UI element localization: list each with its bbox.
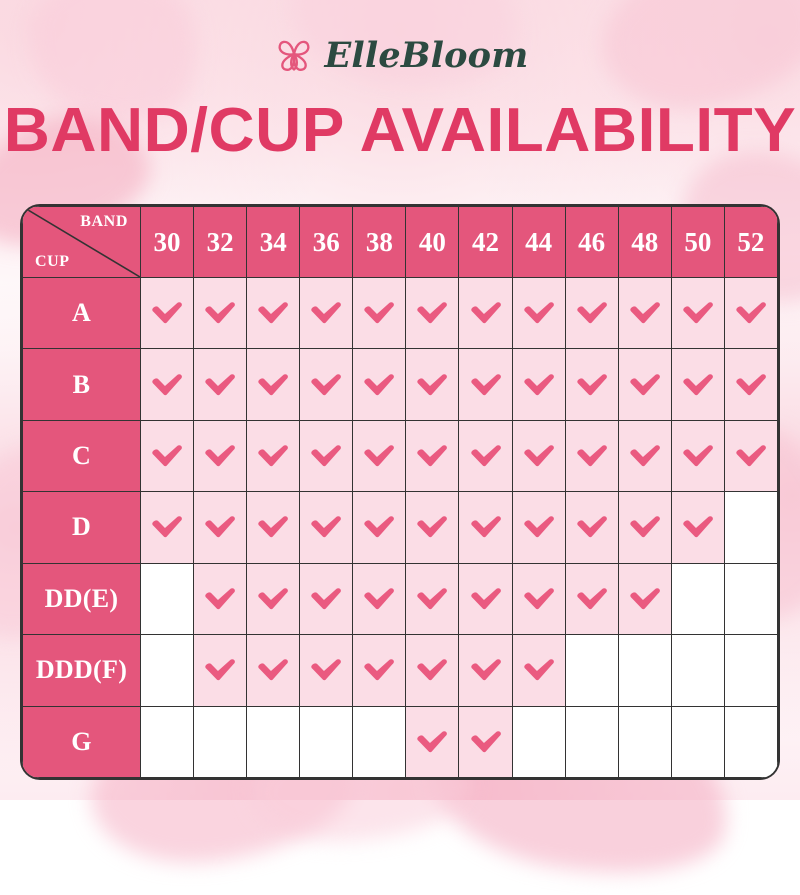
availability-cell-DDD(F)-44 xyxy=(512,635,565,706)
band-cup-availability-table: BAND CUP 303234363840424446485052 ABCDDD… xyxy=(22,206,778,778)
checkmark-icon xyxy=(628,304,662,321)
availability-cell-C-52 xyxy=(724,420,777,491)
checkmark-icon xyxy=(309,661,343,678)
checkmark-icon xyxy=(415,661,449,678)
checkmark-icon xyxy=(256,590,290,607)
availability-cell-DD(E)-30 xyxy=(141,563,194,634)
checkmark-icon xyxy=(575,447,609,464)
availability-cell-B-42 xyxy=(459,349,512,420)
checkmark-icon xyxy=(469,375,503,392)
table-row: G xyxy=(23,706,778,777)
checkmark-icon xyxy=(522,375,556,392)
availability-cell-D-30 xyxy=(141,492,194,563)
table-header-row: BAND CUP 303234363840424446485052 xyxy=(23,207,778,278)
flower-icon xyxy=(272,33,316,77)
availability-cell-G-42 xyxy=(459,706,512,777)
checkmark-icon xyxy=(469,661,503,678)
checkmark-icon xyxy=(681,518,715,535)
availability-cell-DD(E)-52 xyxy=(724,563,777,634)
availability-cell-B-32 xyxy=(194,349,247,420)
availability-cell-G-36 xyxy=(300,706,353,777)
availability-cell-DD(E)-44 xyxy=(512,563,565,634)
availability-cell-D-38 xyxy=(353,492,406,563)
availability-cell-B-52 xyxy=(724,349,777,420)
availability-cell-G-30 xyxy=(141,706,194,777)
brand-name: ElleBloom xyxy=(325,38,529,73)
corner-header-cell: BAND CUP xyxy=(23,207,141,278)
availability-cell-A-46 xyxy=(565,278,618,349)
brand-logo: ElleBloom xyxy=(0,0,800,86)
checkmark-icon xyxy=(415,518,449,535)
availability-cell-DD(E)-48 xyxy=(618,563,671,634)
availability-table-container: BAND CUP 303234363840424446485052 ABCDDD… xyxy=(22,206,778,778)
availability-cell-G-34 xyxy=(247,706,300,777)
availability-cell-DD(E)-34 xyxy=(247,563,300,634)
checkmark-icon xyxy=(203,518,237,535)
availability-cell-B-46 xyxy=(565,349,618,420)
checkmark-icon xyxy=(469,304,503,321)
availability-cell-B-30 xyxy=(141,349,194,420)
availability-cell-B-44 xyxy=(512,349,565,420)
availability-cell-DDD(F)-38 xyxy=(353,635,406,706)
availability-cell-C-34 xyxy=(247,420,300,491)
availability-cell-C-44 xyxy=(512,420,565,491)
checkmark-icon xyxy=(309,304,343,321)
availability-cell-C-50 xyxy=(671,420,724,491)
checkmark-icon xyxy=(681,447,715,464)
availability-cell-C-46 xyxy=(565,420,618,491)
availability-cell-B-48 xyxy=(618,349,671,420)
band-axis-label: BAND xyxy=(80,213,128,231)
checkmark-icon xyxy=(681,375,715,392)
checkmark-icon xyxy=(469,447,503,464)
cup-size-label-DDD(F): DDD(F) xyxy=(23,635,141,706)
availability-cell-DDD(F)-32 xyxy=(194,635,247,706)
availability-cell-G-52 xyxy=(724,706,777,777)
availability-cell-D-40 xyxy=(406,492,459,563)
checkmark-icon xyxy=(734,375,768,392)
checkmark-icon xyxy=(362,375,396,392)
availability-cell-DDD(F)-30 xyxy=(141,635,194,706)
availability-cell-B-50 xyxy=(671,349,724,420)
availability-cell-G-40 xyxy=(406,706,459,777)
band-size-header-38: 38 xyxy=(353,207,406,278)
availability-cell-A-44 xyxy=(512,278,565,349)
availability-cell-A-42 xyxy=(459,278,512,349)
availability-cell-DD(E)-36 xyxy=(300,563,353,634)
availability-cell-D-42 xyxy=(459,492,512,563)
table-row: B xyxy=(23,349,778,420)
availability-cell-D-48 xyxy=(618,492,671,563)
availability-cell-B-34 xyxy=(247,349,300,420)
table-body: ABCDDD(E)DDD(F)G xyxy=(23,278,778,778)
availability-cell-DDD(F)-52 xyxy=(724,635,777,706)
availability-cell-DDD(F)-40 xyxy=(406,635,459,706)
checkmark-icon xyxy=(150,447,184,464)
checkmark-icon xyxy=(469,518,503,535)
table-row: DDD(F) xyxy=(23,635,778,706)
availability-cell-A-32 xyxy=(194,278,247,349)
checkmark-icon xyxy=(469,732,503,749)
availability-cell-G-50 xyxy=(671,706,724,777)
cup-size-label-A: A xyxy=(23,278,141,349)
checkmark-icon xyxy=(415,447,449,464)
availability-cell-D-34 xyxy=(247,492,300,563)
availability-cell-B-40 xyxy=(406,349,459,420)
checkmark-icon xyxy=(309,590,343,607)
band-size-header-40: 40 xyxy=(406,207,459,278)
checkmark-icon xyxy=(575,518,609,535)
cup-size-label-G: G xyxy=(23,706,141,777)
checkmark-icon xyxy=(734,447,768,464)
availability-cell-C-32 xyxy=(194,420,247,491)
availability-cell-D-36 xyxy=(300,492,353,563)
page-title: BAND/CUP AVAILABILITY xyxy=(0,100,800,162)
band-size-header-32: 32 xyxy=(194,207,247,278)
checkmark-icon xyxy=(362,661,396,678)
checkmark-icon xyxy=(628,447,662,464)
checkmark-icon xyxy=(522,590,556,607)
band-size-header-52: 52 xyxy=(724,207,777,278)
checkmark-icon xyxy=(256,447,290,464)
band-size-header-48: 48 xyxy=(618,207,671,278)
availability-cell-C-48 xyxy=(618,420,671,491)
checkmark-icon xyxy=(628,518,662,535)
checkmark-icon xyxy=(203,375,237,392)
checkmark-icon xyxy=(415,732,449,749)
checkmark-icon xyxy=(628,375,662,392)
checkmark-icon xyxy=(150,304,184,321)
availability-cell-A-48 xyxy=(618,278,671,349)
availability-cell-B-38 xyxy=(353,349,406,420)
availability-cell-B-36 xyxy=(300,349,353,420)
availability-cell-DD(E)-40 xyxy=(406,563,459,634)
checkmark-icon xyxy=(203,447,237,464)
availability-cell-G-44 xyxy=(512,706,565,777)
band-size-header-42: 42 xyxy=(459,207,512,278)
availability-cell-DD(E)-32 xyxy=(194,563,247,634)
availability-cell-D-44 xyxy=(512,492,565,563)
availability-cell-G-32 xyxy=(194,706,247,777)
band-size-header-50: 50 xyxy=(671,207,724,278)
band-size-header-30: 30 xyxy=(141,207,194,278)
checkmark-icon xyxy=(522,304,556,321)
checkmark-icon xyxy=(309,518,343,535)
checkmark-icon xyxy=(203,304,237,321)
availability-cell-A-34 xyxy=(247,278,300,349)
checkmark-icon xyxy=(203,590,237,607)
checkmark-icon xyxy=(681,304,715,321)
availability-cell-D-50 xyxy=(671,492,724,563)
availability-cell-A-40 xyxy=(406,278,459,349)
band-size-header-44: 44 xyxy=(512,207,565,278)
availability-cell-DD(E)-38 xyxy=(353,563,406,634)
checkmark-icon xyxy=(575,304,609,321)
availability-cell-DDD(F)-36 xyxy=(300,635,353,706)
availability-cell-G-46 xyxy=(565,706,618,777)
checkmark-icon xyxy=(309,447,343,464)
checkmark-icon xyxy=(150,375,184,392)
availability-cell-D-46 xyxy=(565,492,618,563)
checkmark-icon xyxy=(256,518,290,535)
availability-cell-A-36 xyxy=(300,278,353,349)
checkmark-icon xyxy=(415,590,449,607)
checkmark-icon xyxy=(522,447,556,464)
availability-cell-D-32 xyxy=(194,492,247,563)
checkmark-icon xyxy=(628,590,662,607)
checkmark-icon xyxy=(415,304,449,321)
availability-cell-C-38 xyxy=(353,420,406,491)
band-size-header-46: 46 xyxy=(565,207,618,278)
checkmark-icon xyxy=(150,518,184,535)
cup-size-label-B: B xyxy=(23,349,141,420)
band-size-header-34: 34 xyxy=(247,207,300,278)
cup-size-label-D: D xyxy=(23,492,141,563)
checkmark-icon xyxy=(362,304,396,321)
checkmark-icon xyxy=(309,375,343,392)
checkmark-icon xyxy=(362,447,396,464)
checkmark-icon xyxy=(203,661,237,678)
checkmark-icon xyxy=(256,375,290,392)
table-row: A xyxy=(23,278,778,349)
checkmark-icon xyxy=(469,590,503,607)
availability-cell-A-52 xyxy=(724,278,777,349)
availability-cell-DDD(F)-42 xyxy=(459,635,512,706)
cup-size-label-DD(E): DD(E) xyxy=(23,563,141,634)
availability-cell-DD(E)-50 xyxy=(671,563,724,634)
band-size-header-36: 36 xyxy=(300,207,353,278)
cup-axis-label: CUP xyxy=(35,253,70,271)
availability-cell-A-30 xyxy=(141,278,194,349)
availability-cell-DD(E)-42 xyxy=(459,563,512,634)
availability-cell-C-40 xyxy=(406,420,459,491)
table-row: DD(E) xyxy=(23,563,778,634)
checkmark-icon xyxy=(575,590,609,607)
availability-cell-DDD(F)-50 xyxy=(671,635,724,706)
availability-cell-C-36 xyxy=(300,420,353,491)
availability-cell-DDD(F)-48 xyxy=(618,635,671,706)
availability-cell-DDD(F)-34 xyxy=(247,635,300,706)
checkmark-icon xyxy=(522,661,556,678)
availability-cell-C-42 xyxy=(459,420,512,491)
checkmark-icon xyxy=(362,518,396,535)
availability-cell-D-52 xyxy=(724,492,777,563)
availability-cell-G-38 xyxy=(353,706,406,777)
availability-cell-C-30 xyxy=(141,420,194,491)
availability-cell-DD(E)-46 xyxy=(565,563,618,634)
checkmark-icon xyxy=(362,590,396,607)
checkmark-icon xyxy=(734,304,768,321)
checkmark-icon xyxy=(415,375,449,392)
availability-cell-DDD(F)-46 xyxy=(565,635,618,706)
availability-cell-A-38 xyxy=(353,278,406,349)
checkmark-icon xyxy=(575,375,609,392)
availability-cell-A-50 xyxy=(671,278,724,349)
availability-cell-G-48 xyxy=(618,706,671,777)
checkmark-icon xyxy=(256,661,290,678)
table-row: C xyxy=(23,420,778,491)
table-row: D xyxy=(23,492,778,563)
cup-size-label-C: C xyxy=(23,420,141,491)
checkmark-icon xyxy=(522,518,556,535)
checkmark-icon xyxy=(256,304,290,321)
